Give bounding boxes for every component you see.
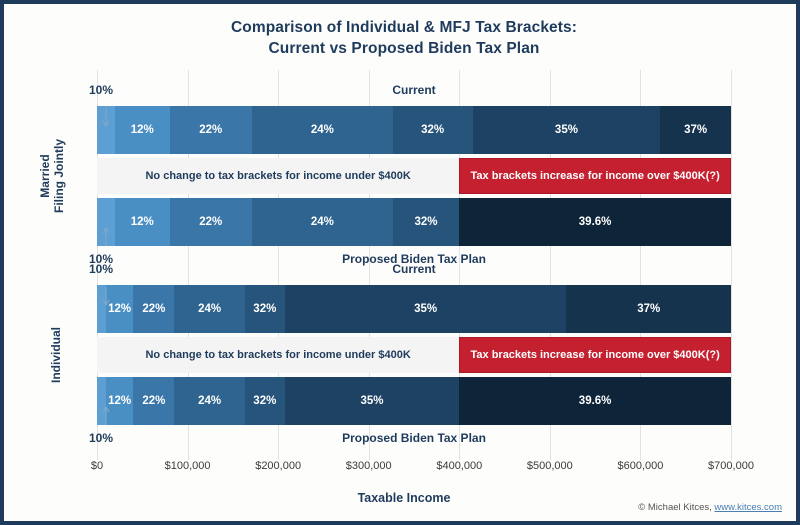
- category-label-line: Married: [38, 139, 52, 213]
- bar-segment-label: 35%: [360, 395, 383, 407]
- bar-segment-label: 32%: [253, 395, 276, 407]
- bar-heading: Current: [97, 83, 731, 97]
- bar-segment-label: 37%: [684, 124, 707, 136]
- bar-heading: Current: [97, 262, 731, 276]
- bar-segment: 35%: [473, 106, 661, 154]
- credit-line: © Michael Kitces, www.kitces.com: [638, 502, 782, 513]
- x-tick-label: $600,000: [617, 460, 663, 472]
- annotation-10-percent: 10%: [89, 431, 113, 445]
- bar-segment: 24%: [252, 198, 393, 246]
- bar-segment: 35%: [285, 285, 567, 333]
- banner-text: Tax brackets increase for income over $4…: [471, 170, 720, 182]
- category-label-individual: Individual: [49, 327, 63, 383]
- category-label-mfj: MarriedFiling Jointly: [38, 139, 66, 213]
- bar-segment-label: 12%: [131, 124, 154, 136]
- stacked-bar: 12%22%24%32%39.6%: [97, 198, 731, 246]
- x-tick-label: $400,000: [436, 460, 482, 472]
- bar-segment: 12%: [115, 198, 170, 246]
- x-tick-label: $100,000: [165, 460, 211, 472]
- bar-segment-label: 32%: [414, 216, 437, 228]
- bar-segment: 39.6%: [459, 198, 731, 246]
- bar-segment-label: 39.6%: [579, 395, 612, 407]
- bar-segment-label: 22%: [142, 303, 165, 315]
- gridline: [731, 70, 732, 460]
- bar-segment: 32%: [393, 106, 473, 154]
- banner-text: No change to tax brackets for income und…: [145, 349, 410, 361]
- bar-segment: 32%: [245, 285, 285, 333]
- bar-segment-label: 35%: [414, 303, 437, 315]
- x-axis-ticks: $0$100,000$200,000$300,000$400,000$500,0…: [4, 460, 800, 482]
- bar-segment-label: 24%: [198, 303, 221, 315]
- category-label-line: Individual: [49, 327, 63, 383]
- stacked-bar: 12%22%24%32%35%37%: [97, 106, 731, 154]
- annotation-arrow-icon: [101, 287, 111, 309]
- banner-text: No change to tax brackets for income und…: [145, 170, 410, 182]
- annotation-10-percent: 10%: [89, 83, 113, 97]
- bar-segment: 12%: [115, 106, 170, 154]
- bar-segment: 37%: [660, 106, 731, 154]
- bar-segment-label: 32%: [421, 124, 444, 136]
- x-tick-label: $500,000: [527, 460, 573, 472]
- bar-segment: 22%: [133, 377, 174, 425]
- banner-text: Tax brackets increase for income over $4…: [471, 349, 720, 361]
- stacked-bar: 12%22%24%32%35%39.6%: [97, 377, 731, 425]
- banner-increase: Tax brackets increase for income over $4…: [459, 337, 731, 373]
- bar-segment: 32%: [245, 377, 285, 425]
- bar-segment-label: 22%: [199, 216, 222, 228]
- bar-segment-label: 39.6%: [579, 216, 612, 228]
- banner-row: No change to tax brackets for income und…: [97, 337, 731, 373]
- bar-heading: Proposed Biden Tax Plan: [97, 431, 731, 445]
- bar-segment-label: 32%: [253, 303, 276, 315]
- plot-area: 12%22%24%32%35%37%Current10%12%22%24%32%…: [97, 70, 731, 460]
- bar-segment: 32%: [393, 198, 459, 246]
- banner-increase: Tax brackets increase for income over $4…: [459, 158, 731, 194]
- bar-segment-label: 24%: [311, 216, 334, 228]
- bar-segment: 24%: [174, 285, 244, 333]
- bar-segment-label: 24%: [198, 395, 221, 407]
- bar-segment: 35%: [285, 377, 459, 425]
- bar-segment: 22%: [170, 106, 252, 154]
- chart-title: Comparison of Individual & MFJ Tax Brack…: [4, 17, 800, 59]
- bar-segment-label: 12%: [131, 216, 154, 228]
- x-tick-label: $700,000: [708, 460, 754, 472]
- bar-segment: 24%: [174, 377, 244, 425]
- stacked-bar: 12%22%24%32%35%37%: [97, 285, 731, 333]
- annotation-arrow-icon: [101, 405, 111, 427]
- bar-segment-label: 12%: [108, 395, 131, 407]
- banner-no-change: No change to tax brackets for income und…: [97, 158, 459, 194]
- bar-segment: 22%: [133, 285, 174, 333]
- banner-row: No change to tax brackets for income und…: [97, 158, 731, 194]
- credit-prefix: © Michael Kitces,: [638, 502, 714, 513]
- annotation-arrow-icon: [101, 108, 111, 130]
- bar-segment: 24%: [252, 106, 393, 154]
- annotation-arrow-icon: [101, 226, 111, 248]
- bar-segment-label: 22%: [199, 124, 222, 136]
- chart-title-line-2: Current vs Proposed Biden Tax Plan: [4, 38, 800, 59]
- credit-url[interactable]: www.kitces.com: [714, 502, 782, 513]
- x-tick-label: $300,000: [346, 460, 392, 472]
- annotation-10-percent: 10%: [89, 262, 113, 276]
- bar-segment: 37%: [566, 285, 730, 333]
- banner-no-change: No change to tax brackets for income und…: [97, 337, 459, 373]
- bar-segment-label: 12%: [108, 303, 131, 315]
- bar-segment-label: 22%: [142, 395, 165, 407]
- x-tick-label: $0: [91, 460, 103, 472]
- bar-segment-label: 24%: [311, 124, 334, 136]
- chart-frame: Comparison of Individual & MFJ Tax Brack…: [0, 0, 800, 525]
- x-tick-label: $200,000: [255, 460, 301, 472]
- bar-segment: 39.6%: [459, 377, 731, 425]
- chart-title-line-1: Comparison of Individual & MFJ Tax Brack…: [4, 17, 800, 38]
- category-label-line: Filing Jointly: [52, 139, 66, 213]
- bar-segment-label: 35%: [555, 124, 578, 136]
- bar-segment-label: 37%: [637, 303, 660, 315]
- bar-segment: 22%: [170, 198, 252, 246]
